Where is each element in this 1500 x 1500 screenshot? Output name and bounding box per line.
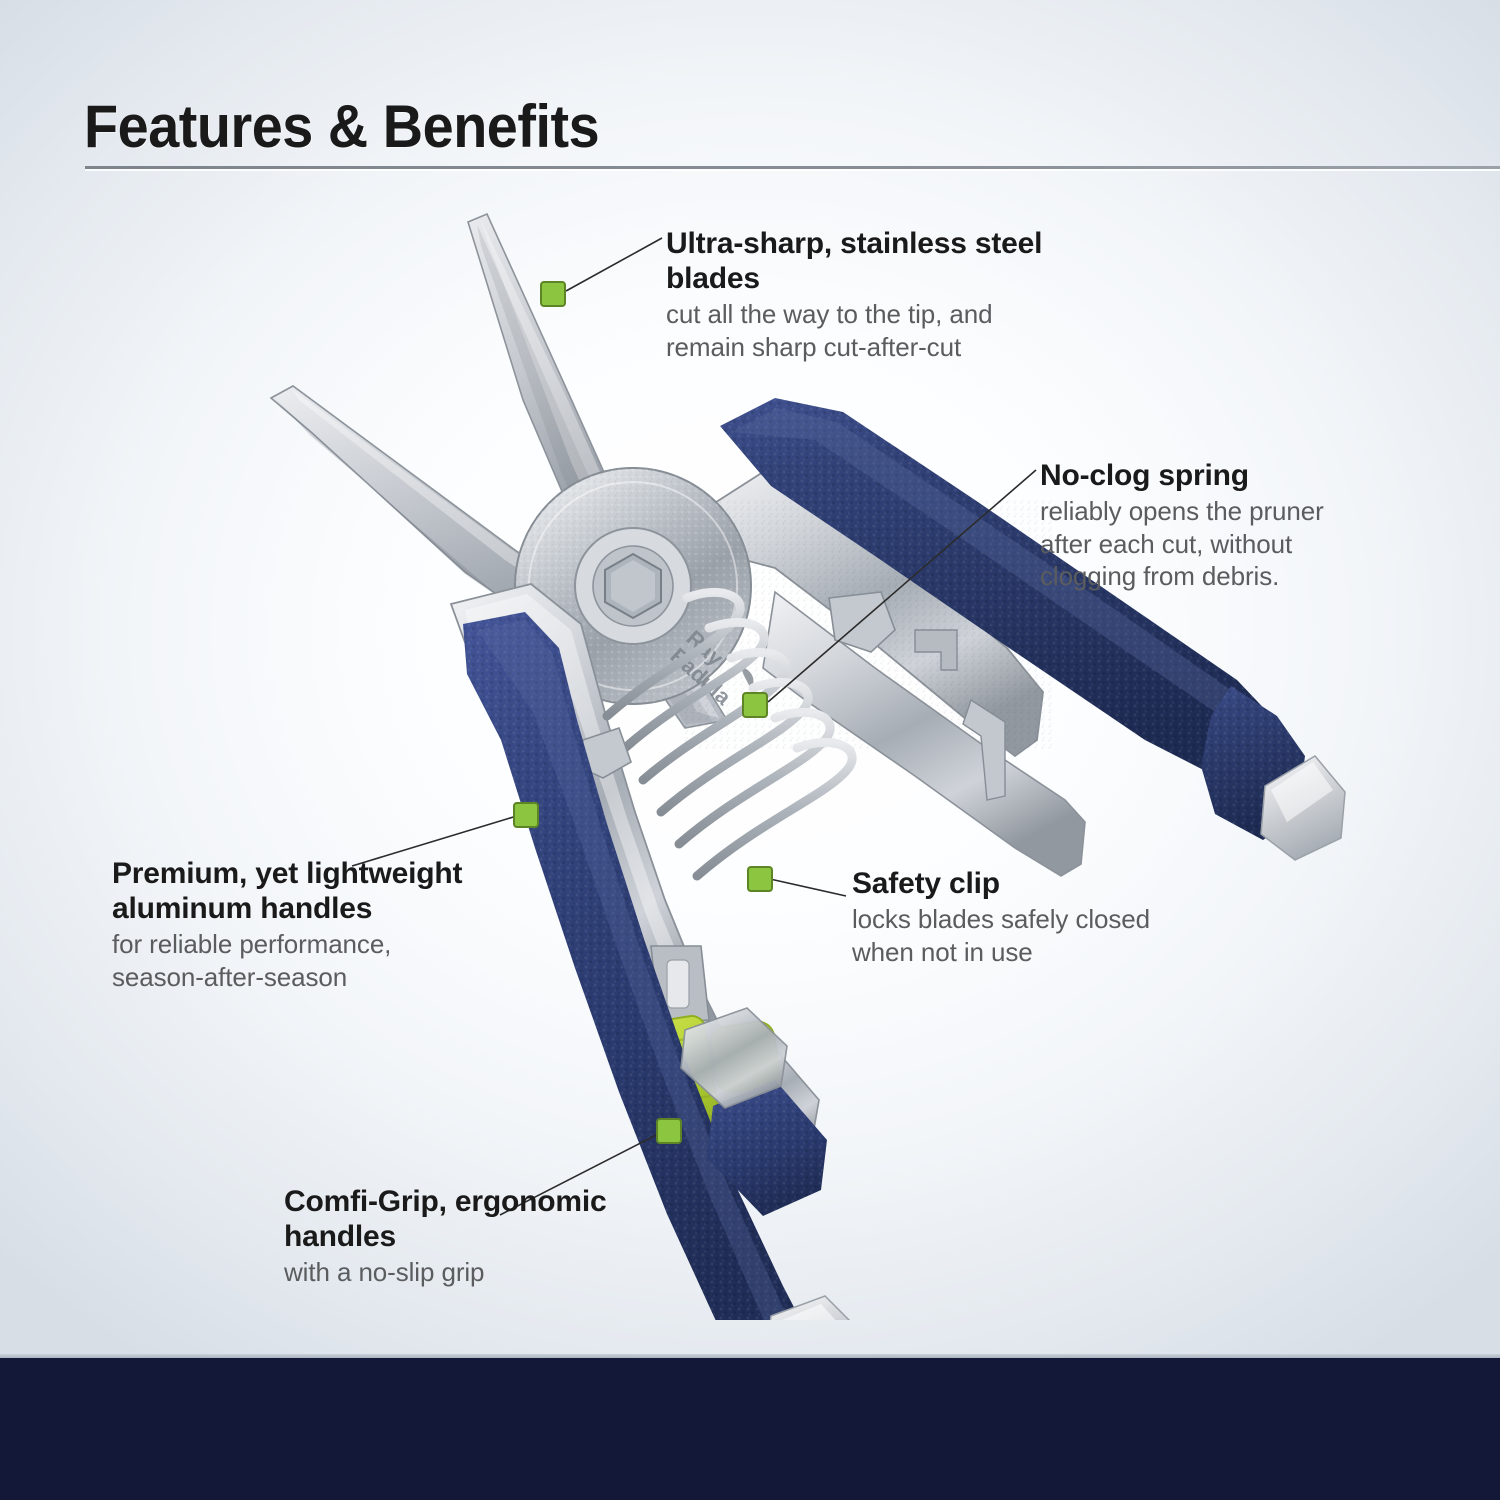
callout-clip-title: Safety clip	[852, 866, 1182, 901]
infographic-page: Features & Benefits	[0, 0, 1500, 1500]
callout-spring-body: reliably opens the pruner after each cut…	[1040, 495, 1370, 593]
callout-marker-clip[interactable]	[747, 866, 773, 892]
callout-clip-body: locks blades safely closed when not in u…	[852, 903, 1182, 968]
callout-marker-blades[interactable]	[540, 281, 566, 307]
callout-spring: No-clog spring reliably opens the pruner…	[1040, 458, 1370, 593]
title-divider-highlight	[85, 169, 1500, 171]
callout-handles: Premium, yet lightweight aluminum handle…	[112, 856, 472, 993]
product-image-hand-pruner: Ray Padula	[215, 200, 1385, 1320]
header: Features & Benefits	[0, 0, 1500, 180]
callout-marker-spring[interactable]	[742, 692, 768, 718]
callout-grip: Comfi-Grip, ergonomic handles with a no-…	[284, 1184, 664, 1289]
callout-clip: Safety clip locks blades safely closed w…	[852, 866, 1182, 968]
callout-handles-body: for reliable performance, season-after-s…	[112, 928, 472, 993]
callout-grip-body: with a no-slip grip	[284, 1256, 664, 1289]
callout-blades-body: cut all the way to the tip, and remain s…	[666, 298, 1066, 363]
page-title: Features & Benefits	[84, 92, 599, 161]
callout-marker-handles[interactable]	[513, 802, 539, 828]
callout-blades-title: Ultra-sharp, stainless steel blades	[666, 226, 1066, 296]
callout-handles-title: Premium, yet lightweight aluminum handle…	[112, 856, 472, 926]
footer-bar	[0, 1358, 1500, 1500]
callout-blades: Ultra-sharp, stainless steel blades cut …	[666, 226, 1066, 363]
callout-marker-grip[interactable]	[656, 1118, 682, 1144]
callout-spring-title: No-clog spring	[1040, 458, 1370, 493]
callout-grip-title: Comfi-Grip, ergonomic handles	[284, 1184, 664, 1254]
